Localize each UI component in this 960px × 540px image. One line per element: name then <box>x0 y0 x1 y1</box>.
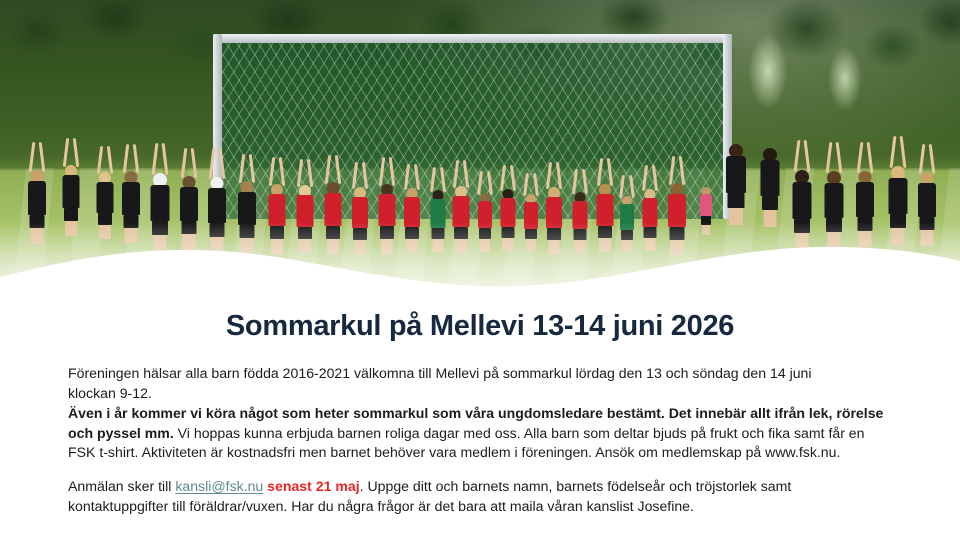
raised-arms <box>548 162 561 189</box>
body-text: Föreningen hälsar alla barn födda 2016-2… <box>68 364 890 516</box>
raised-arms <box>270 157 283 186</box>
jersey <box>352 197 368 228</box>
jersey <box>324 193 341 226</box>
legs <box>729 208 743 225</box>
jersey <box>668 194 686 227</box>
child-figure <box>918 144 936 240</box>
jersey <box>452 196 469 227</box>
raised-arms <box>671 156 684 185</box>
raised-arms <box>859 142 872 173</box>
jersey <box>28 181 46 215</box>
child-figure <box>28 142 46 238</box>
content-area: Sommarkul på Mellevi 13-14 juni 2026 För… <box>0 300 960 540</box>
raised-arms <box>501 165 514 191</box>
paragraph-spacer <box>68 463 890 477</box>
jersey <box>150 185 169 221</box>
jersey <box>378 194 395 226</box>
child-figure <box>856 142 874 240</box>
legs <box>763 210 776 227</box>
jersey <box>430 199 445 228</box>
raised-arms <box>921 144 934 174</box>
jersey <box>856 182 874 217</box>
child-figure <box>122 144 140 238</box>
activities-rest: Vi hoppas kunna erbjuda barnen roliga da… <box>68 425 865 461</box>
jersey <box>180 187 198 221</box>
page-title: Sommarkul på Mellevi 13-14 juni 2026 <box>0 310 960 343</box>
shorts <box>64 208 78 221</box>
wave-divider <box>0 231 960 300</box>
intro-line-1: Föreningen hälsar alla barn födda 2016-2… <box>68 365 812 381</box>
jersey <box>122 182 140 215</box>
shorts <box>920 217 935 230</box>
jersey <box>208 188 226 223</box>
jersey <box>726 156 746 193</box>
raised-arms <box>406 164 419 190</box>
poster-page: Sommarkul på Mellevi 13-14 juni 2026 För… <box>0 0 960 540</box>
jersey <box>268 194 285 226</box>
paragraph-intro: Föreningen hälsar alla barn födda 2016-2… <box>68 364 890 403</box>
shorts <box>124 215 139 228</box>
raised-arms <box>354 162 367 189</box>
child-figure <box>888 136 907 238</box>
deadline-text: senast 21 maj <box>263 478 359 494</box>
shorts <box>858 217 873 231</box>
jersey <box>238 192 256 225</box>
raised-arms <box>211 148 224 179</box>
email-link[interactable]: kansli@fsk.nu <box>175 478 263 494</box>
raised-arms <box>431 167 444 192</box>
child-figure <box>150 143 169 244</box>
raised-arms <box>621 175 634 198</box>
raised-arms <box>183 148 196 178</box>
raised-arms <box>525 173 538 196</box>
jersey <box>700 194 712 216</box>
raised-arms <box>64 138 77 167</box>
shorts <box>890 214 906 228</box>
raised-arms <box>98 146 111 174</box>
raised-arms <box>153 143 166 175</box>
raised-arms <box>241 154 254 183</box>
jersey <box>572 201 587 229</box>
jersey <box>296 195 313 227</box>
jersey <box>546 197 562 228</box>
jersey <box>760 160 779 196</box>
shorts <box>701 216 711 225</box>
raised-arms <box>827 142 840 173</box>
raised-arms <box>298 159 311 187</box>
raised-arms <box>643 165 656 191</box>
raised-arms <box>573 169 586 194</box>
intro-line-2: klockan 9-12. <box>68 385 152 401</box>
jersey <box>404 197 420 227</box>
raised-arms <box>598 158 611 186</box>
paragraph-registration: Anmälan sker till kansli@fsk.nu senast 2… <box>68 477 890 516</box>
jersey <box>792 182 811 219</box>
jersey <box>596 194 613 226</box>
goal-crossbar <box>213 34 732 43</box>
shorts <box>762 196 778 210</box>
child-figure <box>96 146 113 234</box>
registration-prefix: Anmälan sker till <box>68 478 175 494</box>
child-figure <box>792 140 811 244</box>
shorts <box>728 193 745 208</box>
raised-arms <box>326 155 339 184</box>
raised-arms <box>479 171 492 195</box>
jersey <box>524 202 538 229</box>
jersey <box>620 204 634 230</box>
jersey <box>642 198 657 227</box>
hero-photo <box>0 0 960 300</box>
jersey <box>62 175 79 208</box>
jersey <box>478 201 492 228</box>
jersey <box>918 183 936 217</box>
shorts <box>826 218 842 232</box>
jersey <box>500 198 515 227</box>
raised-arms <box>31 142 44 172</box>
jersey <box>96 182 113 213</box>
raised-arms <box>795 140 808 172</box>
shorts <box>30 215 45 228</box>
raised-arms <box>454 160 467 188</box>
child-figure <box>62 138 79 230</box>
raised-arms <box>891 136 904 168</box>
jersey <box>824 183 843 218</box>
paragraph-activities: Även i år kommer vi köra något som heter… <box>68 404 890 463</box>
child-figure <box>180 148 198 244</box>
raised-arms <box>125 144 138 173</box>
shorts <box>98 213 112 225</box>
raised-arms <box>380 157 393 186</box>
child-figure <box>824 142 843 242</box>
jersey <box>888 178 907 214</box>
